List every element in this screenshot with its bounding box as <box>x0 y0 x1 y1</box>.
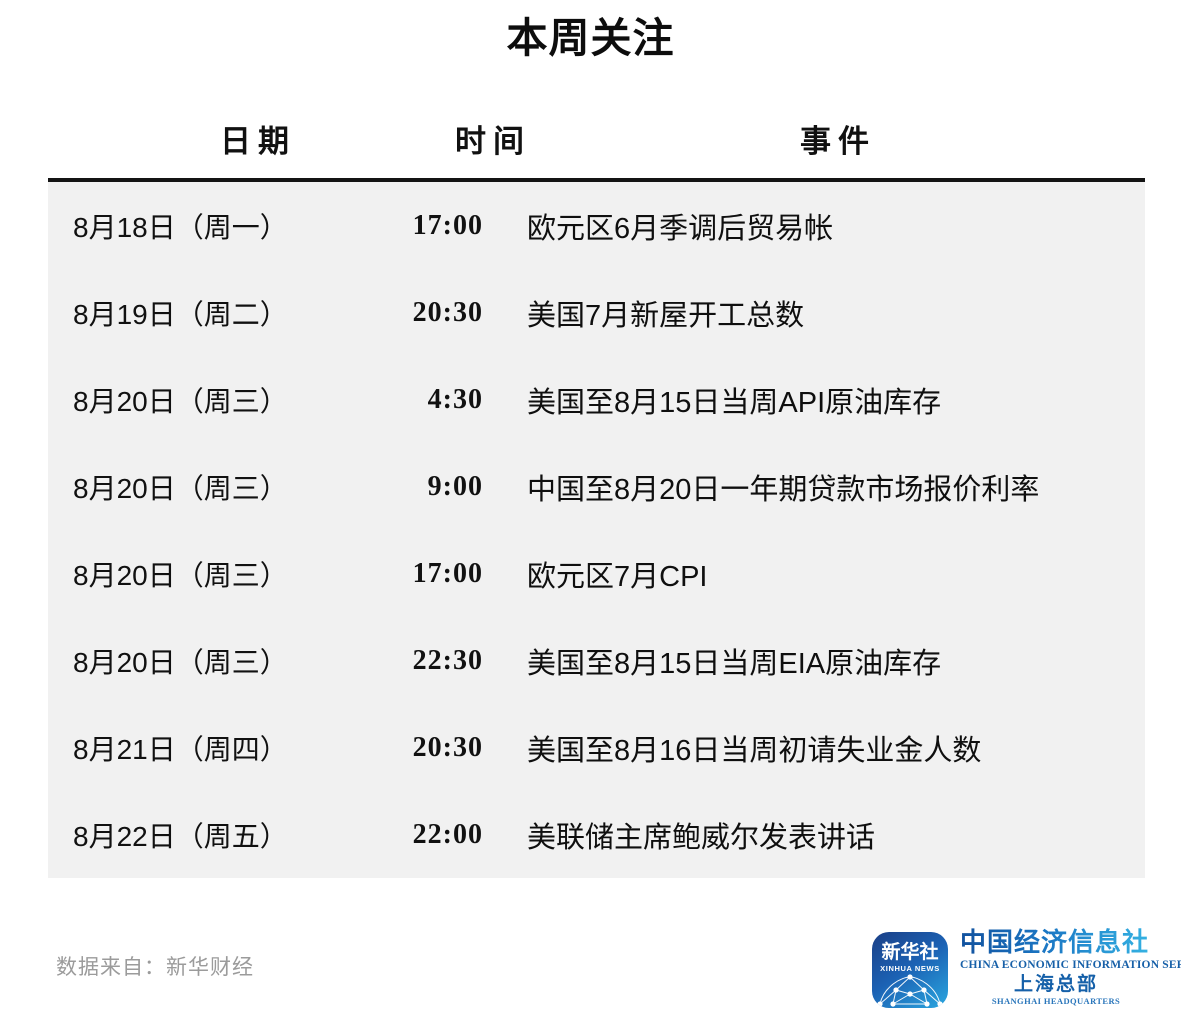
table-row: 8月20日（周三） 4:30 美国至8月15日当周API原油库存 <box>48 356 1145 443</box>
events-table: 日期 时间 事件 8月18日（周一） 17:00 欧元区6月季调后贸易帐 8月1… <box>48 110 1145 878</box>
cell-date: 8月18日（周一） <box>48 206 378 246</box>
column-header-date: 日期 <box>158 116 358 161</box>
cell-date: 8月21日（周四） <box>48 728 378 768</box>
column-header-time: 时间 <box>393 116 593 161</box>
cell-date: 8月19日（周二） <box>48 293 378 333</box>
table-row: 8月18日（周一） 17:00 欧元区6月季调后贸易帐 <box>48 182 1145 269</box>
cell-time: 22:00 <box>378 819 483 851</box>
table-body: 8月18日（周一） 17:00 欧元区6月季调后贸易帐 8月19日（周二） 20… <box>48 182 1145 878</box>
column-header-event: 事件 <box>738 116 938 161</box>
page-title: 本周关注 <box>0 14 1181 63</box>
cell-date: 8月20日（周三） <box>48 641 378 681</box>
logo-text-block: 中国经济信息社 CHINA ECONOMIC INFORMATION SERVI… <box>960 928 1152 1006</box>
logo-hq-en: SHANGHAI HEADQUARTERS <box>960 996 1152 1006</box>
cell-event: 美国至8月16日当周初请失业金人数 <box>483 727 1145 769</box>
cell-time: 17:00 <box>378 558 483 590</box>
cell-event: 欧元区7月CPI <box>483 553 1145 595</box>
cell-event: 欧元区6月季调后贸易帐 <box>483 205 1145 247</box>
logo-hq-cn: 上海总部 <box>960 975 1152 996</box>
cell-date: 8月22日（周五） <box>48 815 378 855</box>
logo-title-cn: 中国经济信息社 <box>960 928 1152 957</box>
cell-date: 8月20日（周三） <box>48 467 378 507</box>
xinhua-cnfin-logo: 新华社 XINHUA NEWS <box>872 928 1152 1024</box>
cell-event: 美联储主席鲍威尔发表讲话 <box>483 814 1145 856</box>
table-row: 8月22日（周五） 22:00 美联储主席鲍威尔发表讲话 <box>48 791 1145 878</box>
network-graphic-icon <box>876 974 944 1008</box>
table-header-row: 日期 时间 事件 <box>48 110 1145 178</box>
cell-event: 美国7月新屋开工总数 <box>483 292 1145 334</box>
cell-event: 美国至8月15日当周EIA原油库存 <box>483 640 1145 682</box>
cell-date: 8月20日（周三） <box>48 554 378 594</box>
data-source-note: 数据来自：新华财经 <box>56 951 254 981</box>
cell-time: 22:30 <box>378 645 483 677</box>
cell-time: 4:30 <box>378 384 483 416</box>
cell-event: 中国至8月20日一年期贷款市场报价利率 <box>483 466 1145 508</box>
xinhua-news-badge-icon: 新华社 XINHUA NEWS <box>872 932 948 1008</box>
cell-time: 17:00 <box>378 210 483 242</box>
cell-time: 20:30 <box>378 297 483 329</box>
cell-time: 20:30 <box>378 732 483 764</box>
table-row: 8月20日（周三） 22:30 美国至8月15日当周EIA原油库存 <box>48 617 1145 704</box>
cell-event: 美国至8月15日当周API原油库存 <box>483 379 1145 421</box>
table-row: 8月20日（周三） 17:00 欧元区7月CPI <box>48 530 1145 617</box>
badge-label-cn: 新华社 <box>872 943 948 962</box>
cell-date: 8月20日（周三） <box>48 380 378 420</box>
table-row: 8月19日（周二） 20:30 美国7月新屋开工总数 <box>48 269 1145 356</box>
table-row: 8月21日（周四） 20:30 美国至8月16日当周初请失业金人数 <box>48 704 1145 791</box>
table-row: 8月20日（周三） 9:00 中国至8月20日一年期贷款市场报价利率 <box>48 443 1145 530</box>
cell-time: 9:00 <box>378 471 483 503</box>
logo-title-en: CHINA ECONOMIC INFORMATION SERVICE <box>960 959 1152 971</box>
badge-label-en: XINHUA NEWS <box>872 965 948 973</box>
